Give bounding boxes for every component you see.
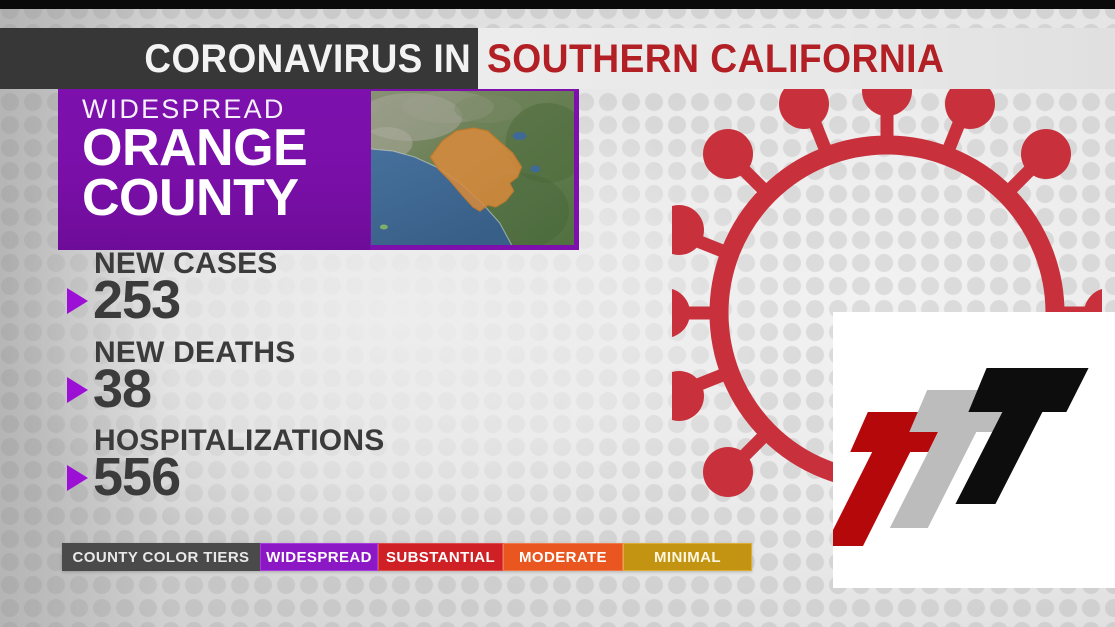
satellite-map-icon <box>371 91 574 245</box>
headline-region-text: SOUTHERN CALIFORNIA <box>487 39 944 79</box>
triangle-right-icon <box>67 288 88 314</box>
legend-tier-substantial: SUBSTANTIAL <box>378 543 503 571</box>
legend-tier-widespread: WIDESPREAD <box>260 543 378 571</box>
triangle-right-icon <box>67 465 88 491</box>
headline-light-segment: SOUTHERN CALIFORNIA <box>478 28 1115 89</box>
stat-value-row: 38 <box>62 365 384 415</box>
county-name-line-1: ORANGE <box>82 124 370 172</box>
headline-primary-text: CORONAVIRUS IN <box>144 39 471 79</box>
stat-hospitalizations: HOSPITALIZATIONS 556 <box>62 426 384 503</box>
broadcast-graphic-screen: CORONAVIRUS IN SOUTHERN CALIFORNIA WIDES… <box>0 0 1115 627</box>
stat-value: 556 <box>93 453 180 503</box>
ttt-logo-icon <box>833 312 1115 588</box>
county-card-text-panel: WIDESPREAD ORANGE COUNTY <box>58 86 370 250</box>
stat-value-row: 253 <box>62 276 384 326</box>
legend-title: COUNTY COLOR TIERS <box>62 543 260 571</box>
county-map-panel <box>370 86 579 250</box>
stat-value-row: 556 <box>62 453 384 503</box>
county-name-line-2: COUNTY <box>82 174 370 222</box>
county-card: WIDESPREAD ORANGE COUNTY <box>58 86 579 250</box>
legend-tier-moderate: MODERATE <box>503 543 623 571</box>
stat-value: 253 <box>93 276 180 326</box>
headline-dark-segment: CORONAVIRUS IN <box>0 28 478 89</box>
legend-tier-minimal: MINIMAL <box>623 543 752 571</box>
stat-value: 38 <box>93 365 151 415</box>
triangle-right-icon <box>67 377 88 403</box>
letterbox-top-bar <box>0 0 1115 9</box>
statistics-list: NEW CASES 253 NEW DEATHS 38 HOSPITALIZAT… <box>62 249 384 515</box>
stat-new-deaths: NEW DEATHS 38 <box>62 338 384 415</box>
county-color-tier-legend: COUNTY COLOR TIERS WIDESPREAD SUBSTANTIA… <box>62 543 752 571</box>
stat-new-cases: NEW CASES 253 <box>62 249 384 326</box>
headline-banner: CORONAVIRUS IN SOUTHERN CALIFORNIA <box>0 28 1115 89</box>
